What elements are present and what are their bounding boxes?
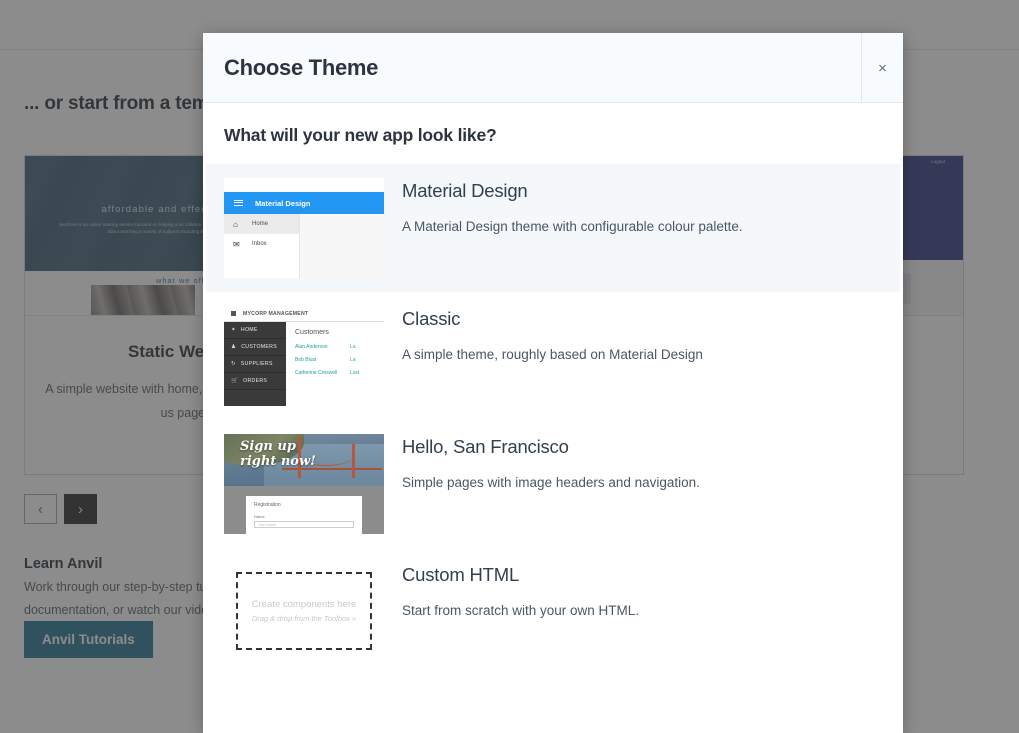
thumb-dashed-dropzone: Create components here Drag & drop from … <box>236 572 372 650</box>
thumb-top-bar: MYCORP MANAGEMENT <box>224 306 384 322</box>
theme-name: Custom HTML <box>402 564 639 586</box>
theme-info: Material Design A Material Design theme … <box>402 178 743 240</box>
modal-title: Choose Theme <box>203 55 378 81</box>
form-label-name: Name <box>254 514 354 519</box>
thumb-nav-label: Home <box>252 221 268 227</box>
dropzone-secondary-text: Drag & drop from the Toolbox » <box>252 614 356 623</box>
thumb-nav-label: ORDERS <box>243 378 267 384</box>
theme-description: Simple pages with image headers and navi… <box>402 470 700 496</box>
theme-info: Hello, San Francisco Simple pages with i… <box>402 434 700 496</box>
refresh-icon: ↻ <box>231 361 236 367</box>
theme-thumbnail-classic: MYCORP MANAGEMENT ✦ HOME ♟ CUSTOMERS ↻ S… <box>224 306 384 406</box>
thumb-nav-item-home: ✦ HOME <box>224 322 286 339</box>
theme-thumbnail-hello-san-francisco: Sign up right now! Registration Name You… <box>224 434 384 534</box>
thumb-nav-item-suppliers: ↻ SUPPLIERS <box>224 356 286 373</box>
form-heading: Registration <box>254 502 354 508</box>
form-input-name: Your Name <box>254 521 354 528</box>
thumb-nav-label: CUSTOMERS <box>241 344 277 350</box>
thumb-app-bar: Material Design <box>224 192 384 214</box>
thumb-hero-image: Sign up right now! <box>224 434 384 486</box>
bridge-tower <box>352 444 355 478</box>
close-icon[interactable]: × <box>872 60 893 77</box>
hero-signup-line2: right now! <box>240 454 316 469</box>
thumb-app-bar-title: Material Design <box>255 199 310 208</box>
theme-option-material-design[interactable]: Material Design ⌂ Home ✉ Inbox Material … <box>206 164 900 292</box>
thumb-nav-item-orders: 🛒 ORDERS <box>224 373 286 390</box>
thumb-nav-label: SUPPLIERS <box>241 361 273 367</box>
thumb-nav-item-inbox: ✉ Inbox <box>224 234 299 254</box>
theme-option-custom-html[interactable]: Create components here Drag & drop from … <box>206 548 900 676</box>
home-icon: ✦ <box>231 327 236 333</box>
hamburger-icon <box>234 200 243 207</box>
menu-square-icon <box>231 311 236 316</box>
thumb-nav-item-customers: ♟ CUSTOMERS <box>224 339 286 356</box>
thumb-table-row: Bob Blust La <box>295 357 384 363</box>
modal-header: Choose Theme × <box>203 33 903 103</box>
inbox-icon: ✉ <box>233 240 242 249</box>
theme-description: A simple theme, roughly based on Materia… <box>402 342 703 368</box>
dropzone-primary-text: Create components here <box>252 599 357 610</box>
theme-thumbnail-custom-html: Create components here Drag & drop from … <box>224 562 384 662</box>
thumb-row-name: Bob Blust <box>295 357 350 363</box>
thumb-content-heading: Customers <box>295 329 384 336</box>
home-icon: ⌂ <box>233 220 242 229</box>
thumb-nav-item-home: ⌂ Home <box>224 214 299 234</box>
modal-question-text: What will your new app look like? <box>224 125 882 146</box>
thumb-row-value: Last <box>350 370 359 376</box>
thumb-top-bar-title: MYCORP MANAGEMENT <box>243 311 308 317</box>
thumb-row-value: La <box>350 357 356 363</box>
thumb-table-row: Catherine Creswell Last <box>295 370 384 376</box>
person-icon: ♟ <box>231 344 236 350</box>
theme-description: Start from scratch with your own HTML. <box>402 598 639 624</box>
theme-name: Hello, San Francisco <box>402 436 700 458</box>
theme-description: A Material Design theme with configurabl… <box>402 214 743 240</box>
thumb-sidebar: ✦ HOME ♟ CUSTOMERS ↻ SUPPLIERS 🛒 ORDERS <box>224 322 286 406</box>
modal-body: What will your new app look like? Materi… <box>203 103 903 676</box>
modal-close-cell[interactable]: × <box>861 33 903 103</box>
theme-name: Material Design <box>402 180 743 202</box>
theme-info: Classic A simple theme, roughly based on… <box>402 306 703 368</box>
thumb-registration-form: Registration Name Your Name Address <box>246 496 362 534</box>
form-label-address: Address <box>254 533 354 534</box>
thumb-row-name: Alan Anderson <box>295 344 350 350</box>
thumb-row-name: Catherine Creswell <box>295 370 350 376</box>
thumb-nav-label: Inbox <box>252 241 267 247</box>
theme-thumbnail-material-design: Material Design ⌂ Home ✉ Inbox <box>224 178 384 278</box>
theme-info: Custom HTML Start from scratch with your… <box>402 562 639 624</box>
theme-option-classic[interactable]: MYCORP MANAGEMENT ✦ HOME ♟ CUSTOMERS ↻ S… <box>206 292 900 420</box>
theme-option-hello-san-francisco[interactable]: Sign up right now! Registration Name You… <box>206 420 900 548</box>
choose-theme-modal: Choose Theme × What will your new app lo… <box>203 33 903 733</box>
cart-icon: 🛒 <box>231 378 238 384</box>
theme-name: Classic <box>402 308 703 330</box>
thumb-table-row: Alan Anderson La <box>295 344 384 350</box>
thumb-content-area: Customers Alan Anderson La Bob Blust La … <box>286 322 384 406</box>
hero-signup-line1: Sign up <box>240 439 296 454</box>
thumb-content-area <box>300 214 384 278</box>
thumb-row-value: La <box>350 344 356 350</box>
thumb-nav-label: HOME <box>241 327 258 333</box>
thumb-sidebar: ⌂ Home ✉ Inbox <box>224 214 300 278</box>
